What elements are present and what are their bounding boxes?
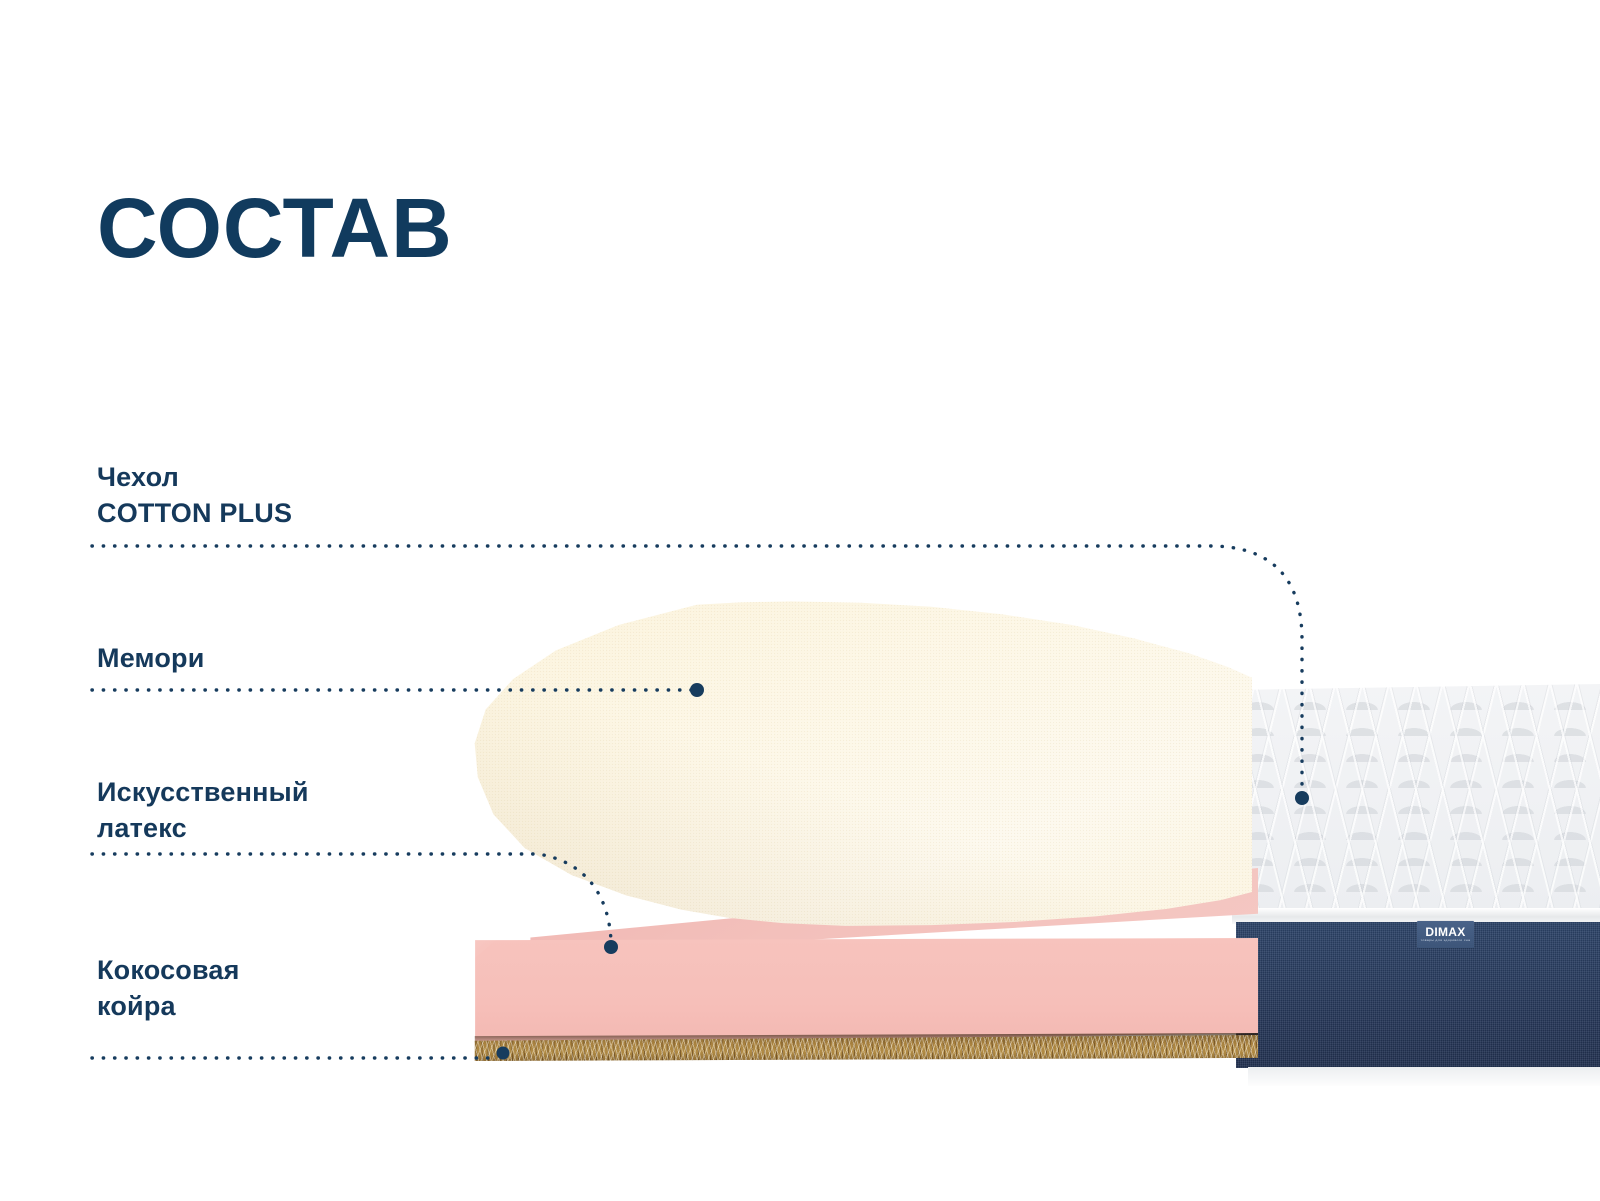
callout-label-memory: Мемори (97, 640, 205, 676)
dimax-tagline-text: товары для здорового сна (1421, 938, 1471, 943)
mattress-illustration: DIMAX товары для здорового сна (0, 0, 1600, 1201)
dimax-brand-text: DIMAX (1425, 926, 1465, 938)
memory-foam-layer (470, 598, 1252, 936)
artificial-latex-front-face (468, 938, 1258, 1046)
callout-label-coir: Кокосовая койра (97, 952, 240, 1024)
callout-label-cover: Чехол COTTON PLUS (97, 459, 292, 531)
memory-foam-shading (470, 598, 1252, 936)
mattress-cover-quilt-pattern (1232, 684, 1600, 916)
dimax-logo-badge: DIMAX товары для здорового сна (1417, 921, 1474, 948)
mattress-bottom-edge (1248, 1067, 1600, 1086)
slide-canvas: СОСТАВ DIMAX товары для здорового сна (0, 0, 1600, 1201)
callout-label-latex: Искусственный латекс (97, 774, 309, 846)
